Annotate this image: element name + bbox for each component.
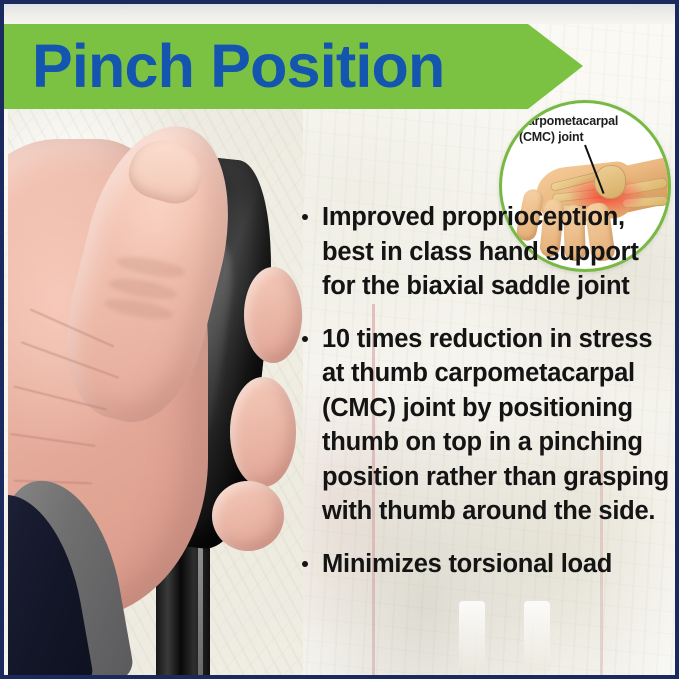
title-banner: Pinch Position: [4, 24, 583, 109]
anatomy-label-line2: (CMC) joint: [519, 130, 583, 144]
bullet-dot-icon: [302, 336, 308, 342]
finger-knuckle-upper: [244, 267, 302, 363]
anatomy-label-line1: Carpometacarpal: [519, 114, 618, 128]
finger-knuckle-lower: [230, 377, 296, 487]
anatomy-label: Carpometacarpal (CMC) joint: [519, 114, 618, 145]
product-photo: [8, 109, 303, 679]
list-item: 10 times reduction in stress at thumb ca…: [300, 322, 678, 529]
bullet-text: Minimizes torsional load: [322, 547, 678, 582]
infographic-frame: Pinch Position Carpometacarpal (CMC) joi…: [0, 0, 679, 679]
bullet-dot-icon: [302, 561, 308, 567]
bullet-dot-icon: [302, 214, 308, 220]
list-item: Improved proprioception, best in class h…: [300, 200, 678, 304]
top-strip: [4, 4, 675, 24]
background-post-right: [524, 601, 550, 671]
finger-tip: [212, 481, 284, 551]
bullet-text: 10 times reduction in stress at thumb ca…: [322, 322, 678, 529]
background-post-left: [459, 601, 485, 671]
list-item: Minimizes torsional load: [300, 547, 678, 582]
bullet-text: Improved proprioception, best in class h…: [322, 200, 678, 304]
benefits-list: Improved proprioception, best in class h…: [300, 200, 678, 581]
page-title: Pinch Position: [32, 36, 444, 97]
